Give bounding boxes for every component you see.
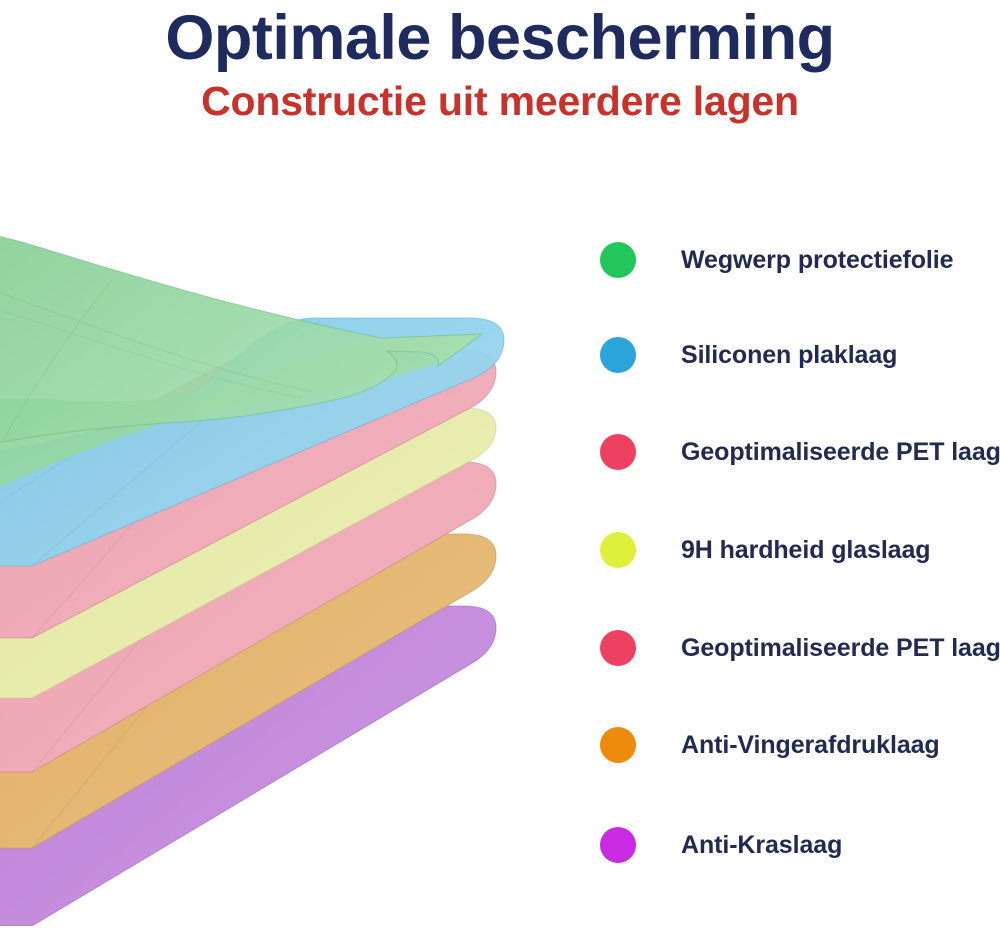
color-dot-icon [600,242,636,278]
legend-item-label: Anti-Kraslaag [681,831,842,860]
layer-legend: Wegwerp protectiefolie Siliconen plaklaa… [600,222,1000,902]
infographic-page: Optimale bescherming Constructie uit mee… [0,0,1000,939]
color-dot-icon [600,434,636,470]
legend-item-anti-vingerafdruklaag[interactable]: Anti-Vingerafdruklaag [600,723,940,767]
legend-item-label: Geoptimaliseerde PET laag [681,438,1000,467]
legend-item-geoptimaliseerde-pet-laag-boven[interactable]: Geoptimaliseerde PET laag [600,430,1000,474]
legend-item-wegwerp-protectiefolie[interactable]: Wegwerp protectiefolie [600,238,953,282]
layer-stack-illustration [0,186,582,926]
legend-item-label: Anti-Vingerafdruklaag [681,731,940,760]
color-dot-icon [600,727,636,763]
legend-item-siliconen-plaklaag[interactable]: Siliconen plaklaag [600,333,897,377]
page-title: Optimale bescherming [0,0,1000,72]
color-dot-icon [600,337,636,373]
page-subtitle: Constructie uit meerdere lagen [0,72,1000,124]
legend-item-label: 9H hardheid glaslaag [681,536,930,565]
color-dot-icon [600,630,636,666]
legend-item-label: Geoptimaliseerde PET laag [681,634,1000,663]
color-dot-icon [600,827,636,863]
legend-item-label: Wegwerp protectiefolie [681,246,953,275]
legend-item-label: Siliconen plaklaag [681,341,897,370]
header: Optimale bescherming Constructie uit mee… [0,0,1000,165]
legend-item-anti-kraslaag[interactable]: Anti-Kraslaag [600,823,842,867]
legend-item-geoptimaliseerde-pet-laag-onder[interactable]: Geoptimaliseerde PET laag [600,626,1000,670]
legend-item-9h-hardheid-glaslaag[interactable]: 9H hardheid glaslaag [600,528,930,572]
color-dot-icon [600,532,636,568]
